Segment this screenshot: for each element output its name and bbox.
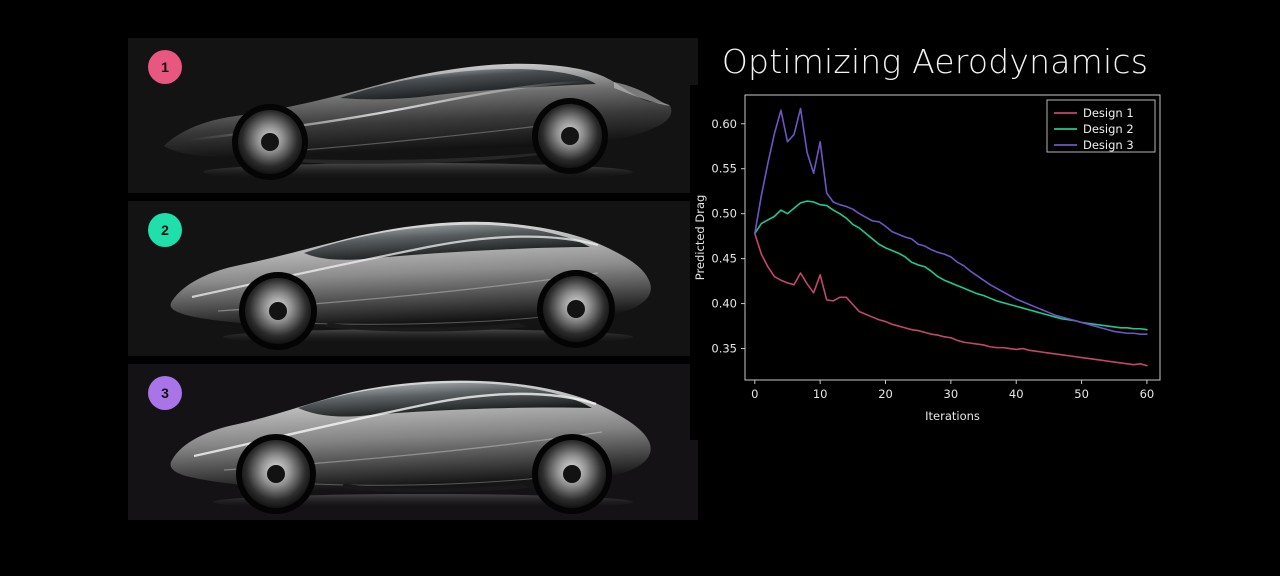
x-tick-label: 20 — [878, 387, 893, 401]
x-tick-label: 10 — [813, 387, 828, 401]
legend-label-1: Design 1 — [1083, 106, 1134, 120]
y-tick-label: 0.50 — [711, 207, 737, 221]
plot-svg: 0.350.400.450.500.550.600102030405060Ite… — [690, 85, 1170, 440]
aerodynamics-chart: Optimizing Aerodynamics 0.350.400.450.50… — [700, 30, 1170, 450]
y-axis-label: Predicted Drag — [693, 195, 707, 281]
plot-area: 0.350.400.450.500.550.600102030405060Ite… — [690, 85, 1170, 440]
design-panel-1[interactable]: 1 — [128, 38, 698, 193]
x-tick-label: 30 — [944, 387, 959, 401]
car-render-3 — [128, 364, 698, 520]
chart-title: Optimizing Aerodynamics — [700, 42, 1170, 81]
y-tick-label: 0.40 — [711, 297, 737, 311]
design-gallery: 1 — [128, 38, 698, 520]
y-tick-label: 0.55 — [711, 162, 737, 176]
x-tick-label: 0 — [751, 387, 758, 401]
design-badge-3: 3 — [148, 376, 182, 410]
x-tick-label: 60 — [1140, 387, 1155, 401]
design-panel-3[interactable]: 3 — [128, 364, 698, 520]
y-tick-label: 0.60 — [711, 117, 737, 131]
x-axis-label: Iterations — [925, 409, 980, 423]
legend-label-2: Design 2 — [1083, 122, 1134, 136]
x-tick-label: 50 — [1074, 387, 1089, 401]
y-tick-label: 0.35 — [711, 342, 737, 356]
y-tick-label: 0.45 — [711, 252, 737, 266]
design-panel-2[interactable]: 2 — [128, 201, 698, 356]
design-badge-1: 1 — [148, 50, 182, 84]
slide-root: 1 — [0, 0, 1280, 576]
car-render-1 — [128, 38, 698, 193]
car-render-2 — [128, 201, 698, 356]
x-tick-label: 40 — [1009, 387, 1024, 401]
legend-label-3: Design 3 — [1083, 138, 1134, 152]
design-badge-2: 2 — [148, 213, 182, 247]
